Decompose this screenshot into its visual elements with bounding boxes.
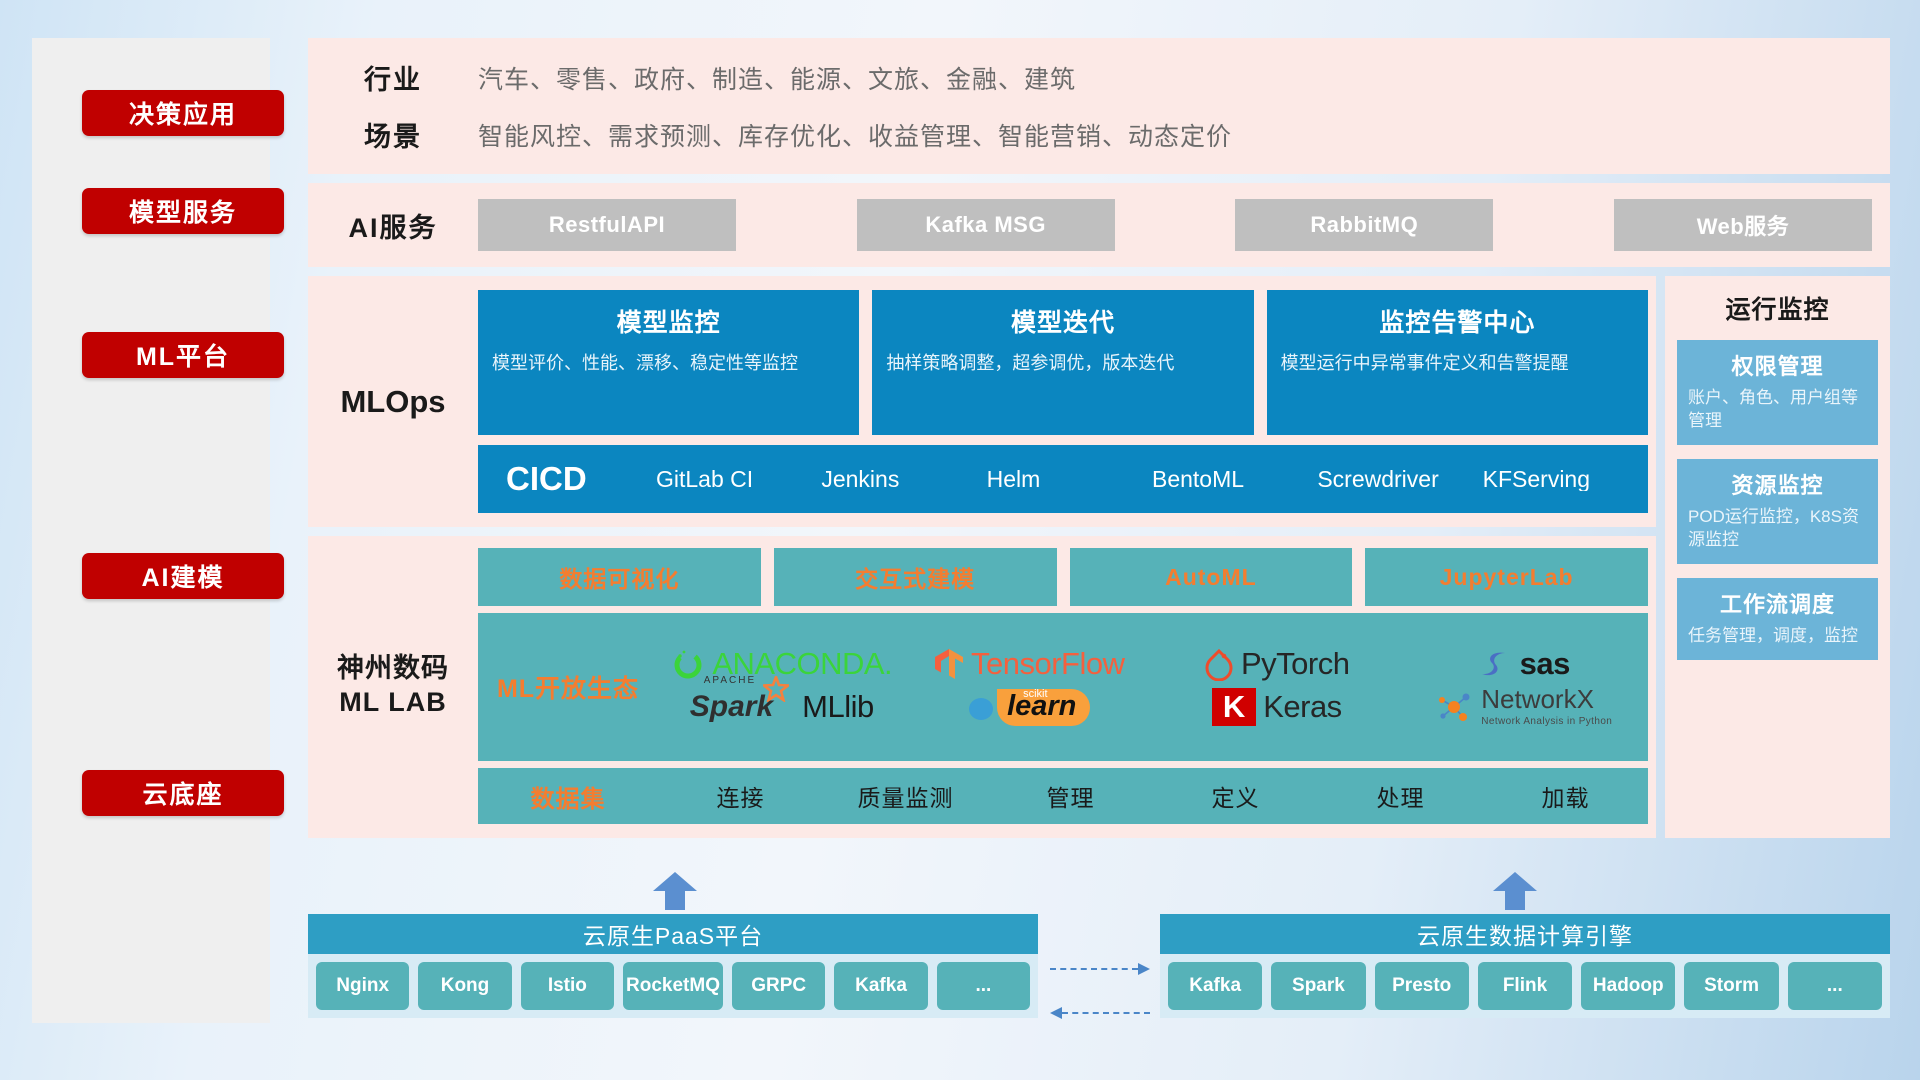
ml-lab-key-line2: ML LAB	[339, 686, 447, 720]
ai-service-items: RestfulAPI Kafka MSG RabbitMQ Web服务	[478, 199, 1890, 251]
ai-modeling-band: 神州数码 ML LAB 数据可视化 交互式建模 AutoML JupyterLa…	[308, 536, 1656, 838]
cicd-item-gitlab-ci[interactable]: GitLab CI	[656, 467, 821, 491]
networkx-tagline: Network Analysis in Python	[1481, 716, 1612, 727]
dataset-item-connect[interactable]: 连接	[658, 779, 823, 813]
ecosystem-logo-grid: ANACONDA. TensorFlow	[658, 646, 1648, 728]
cicd-item-list: GitLab CI Jenkins Helm BentoML Screwdriv…	[656, 467, 1648, 491]
dataset-item-define[interactable]: 定义	[1153, 779, 1318, 813]
ai-service-band: AI服务 RestfulAPI Kafka MSG RabbitMQ Web服务	[308, 183, 1890, 267]
cicd-item-screwdriver[interactable]: Screwdriver	[1317, 467, 1482, 491]
run-monitor-column: 运行监控 权限管理 账户、角色、用户组等管理 资源监控 POD运行监控，K8S资…	[1665, 276, 1890, 838]
logo-pytorch: PyTorch	[1204, 646, 1349, 682]
rail-label-model-service[interactable]: 模型服务	[82, 188, 284, 234]
left-layer-rail: 决策应用 模型服务 ML平台 AI建模 云底座	[32, 38, 270, 1023]
cicd-item-helm[interactable]: Helm	[987, 467, 1152, 491]
card-desc: POD运行监控，K8S资源监控	[1688, 506, 1867, 552]
ml-lab-key-line1: 神州数码	[337, 652, 449, 686]
dashed-arrow-right-icon	[1050, 968, 1150, 970]
mlops-content: 模型监控 模型评价、性能、漂移、稳定性等监控 模型迭代 抽样策略调整，超参调优，…	[478, 290, 1656, 513]
run-monitor-title: 运行监控	[1677, 290, 1878, 326]
card-title: 模型监控	[492, 303, 845, 339]
chip-more-compute[interactable]: ...	[1788, 962, 1882, 1010]
sas-icon	[1479, 648, 1513, 680]
cloud-compute-title: 云原生数据计算引擎	[1160, 914, 1890, 954]
open-ecosystem-label: ML开放生态	[478, 669, 658, 705]
chip-grpc[interactable]: GRPC	[732, 962, 825, 1010]
networkx-wordmark: NetworkX	[1481, 684, 1594, 714]
scenario-row: 场景 智能风控、需求预测、库存优化、收益管理、智能营销、动态定价	[308, 115, 1890, 154]
cicd-item-kfserving[interactable]: KFServing	[1483, 467, 1648, 491]
cicd-bar: CICD GitLab CI Jenkins Helm BentoML Scre…	[478, 445, 1648, 513]
up-arrow-paas-icon	[653, 872, 697, 910]
open-ecosystem-row: ML开放生态 ANACONDA.	[478, 613, 1648, 761]
industry-value: 汽车、零售、政府、制造、能源、文旅、金融、建筑	[478, 60, 1076, 96]
dataset-label: 数据集	[478, 779, 658, 814]
industry-key: 行业	[308, 58, 478, 97]
dataset-item-load[interactable]: 加载	[1483, 779, 1648, 813]
industry-row: 行业 汽车、零售、政府、制造、能源、文旅、金融、建筑	[308, 58, 1890, 97]
anaconda-icon	[671, 647, 705, 681]
architecture-main: 行业 汽车、零售、政府、制造、能源、文旅、金融、建筑 场景 智能风控、需求预测、…	[308, 38, 1890, 838]
card-title: 工作流调度	[1688, 587, 1867, 619]
cloud-compute-group: 云原生数据计算引擎 Kafka Spark Presto Flink Hadoo…	[1160, 914, 1890, 1018]
mlops-card-list: 模型监控 模型评价、性能、漂移、稳定性等监控 模型迭代 抽样策略调整，超参调优，…	[478, 290, 1648, 435]
networkx-wordmark-block: NetworkX Network Analysis in Python	[1481, 686, 1612, 728]
pytorch-wordmark: PyTorch	[1241, 646, 1349, 682]
dataset-item-process[interactable]: 处理	[1318, 779, 1483, 813]
cloud-paas-group: 云原生PaaS平台 Nginx Kong Istio RocketMQ GRPC…	[308, 914, 1038, 1018]
card-title: 权限管理	[1688, 349, 1867, 381]
ml-lab-key: 神州数码 ML LAB	[308, 548, 478, 824]
cloud-paas-title: 云原生PaaS平台	[308, 914, 1038, 954]
decision-app-band: 行业 汽车、零售、政府、制造、能源、文旅、金融、建筑 场景 智能风控、需求预测、…	[308, 38, 1890, 174]
chip-spark[interactable]: Spark	[1271, 962, 1365, 1010]
cicd-item-jenkins[interactable]: Jenkins	[821, 467, 986, 491]
card-desc: 模型评价、性能、漂移、稳定性等监控	[492, 351, 845, 377]
logo-keras: K Keras	[1212, 688, 1342, 726]
mlops-card-model-iteration[interactable]: 模型迭代 抽样策略调整，超参调优，版本迭代	[872, 290, 1253, 435]
tool-interactive-modeling[interactable]: 交互式建模	[774, 548, 1057, 606]
mlops-card-model-monitoring[interactable]: 模型监控 模型评价、性能、漂移、稳定性等监控	[478, 290, 859, 435]
modeling-tool-list: 数据可视化 交互式建模 AutoML JupyterLab	[478, 548, 1648, 606]
chip-storm[interactable]: Storm	[1684, 962, 1778, 1010]
ml-platform-and-modeling: MLOps 模型监控 模型评价、性能、漂移、稳定性等监控 模型迭代 抽样策略调整…	[308, 276, 1656, 838]
mlops-band: MLOps 模型监控 模型评价、性能、漂移、稳定性等监控 模型迭代 抽样策略调整…	[308, 276, 1656, 527]
ai-service-key: AI服务	[308, 206, 478, 245]
dataset-item-quality-monitor[interactable]: 质量监测	[823, 779, 988, 813]
card-desc: 账户、角色、用户组等管理	[1688, 387, 1867, 433]
chip-hadoop[interactable]: Hadoop	[1581, 962, 1675, 1010]
service-box-rabbitmq[interactable]: RabbitMQ	[1235, 199, 1493, 251]
dataset-row: 数据集 连接 质量监测 管理 定义 处理 加载	[478, 768, 1648, 824]
monitor-card-workflow[interactable]: 工作流调度 任务管理，调度，监控	[1677, 578, 1878, 660]
card-desc: 抽样策略调整，超参调优，版本迭代	[886, 351, 1239, 377]
networkx-icon	[1436, 690, 1474, 724]
logo-scikit-learn: scikit learn	[968, 689, 1090, 726]
cicd-item-bentoml[interactable]: BentoML	[1152, 467, 1317, 491]
tensorflow-wordmark: TensorFlow	[971, 646, 1125, 682]
dashed-arrow-left-icon	[1050, 1012, 1150, 1014]
apache-spark-icon: APACHE Spark	[690, 690, 773, 724]
mlops-card-alert-center[interactable]: 监控告警中心 模型运行中异常事件定义和告警提醒	[1267, 290, 1648, 435]
scenario-key: 场景	[308, 115, 478, 154]
card-desc: 任务管理，调度，监控	[1688, 625, 1867, 648]
dataset-item-list: 连接 质量监测 管理 定义 处理 加载	[658, 779, 1648, 813]
chip-rocketmq[interactable]: RocketMQ	[623, 962, 723, 1010]
dataset-item-manage[interactable]: 管理	[988, 779, 1153, 813]
tool-data-visualization[interactable]: 数据可视化	[478, 548, 761, 606]
chip-more-paas[interactable]: ...	[937, 962, 1030, 1010]
card-title: 模型迭代	[886, 303, 1239, 339]
keras-wordmark: Keras	[1263, 689, 1341, 725]
service-box-restfulapi[interactable]: RestfulAPI	[478, 199, 736, 251]
chip-kafka-compute[interactable]: Kafka	[1168, 962, 1262, 1010]
spark-wordmark: Spark	[690, 690, 773, 723]
chip-flink[interactable]: Flink	[1478, 962, 1572, 1010]
cicd-label: CICD	[506, 460, 656, 498]
chip-istio[interactable]: Istio	[521, 962, 614, 1010]
logo-spark-mllib: APACHE Spark MLlib	[690, 689, 874, 725]
service-box-kafka-msg[interactable]: Kafka MSG	[857, 199, 1115, 251]
sas-wordmark: sas	[1520, 646, 1570, 682]
monitor-card-permission[interactable]: 权限管理 账户、角色、用户组等管理	[1677, 340, 1878, 445]
chip-kafka[interactable]: Kafka	[834, 962, 927, 1010]
mlops-key: MLOps	[308, 290, 478, 513]
rail-label-decision-app[interactable]: 决策应用	[82, 90, 284, 136]
pytorch-icon	[1204, 647, 1234, 681]
spark-star-icon	[763, 676, 789, 702]
rail-label-ai-modeling[interactable]: AI建模	[82, 553, 284, 599]
rail-label-cloud-base[interactable]: 云底座	[82, 770, 284, 816]
logo-sas: sas	[1479, 646, 1570, 682]
cloud-paas-chips: Nginx Kong Istio RocketMQ GRPC Kafka ...	[308, 954, 1038, 1018]
monitor-card-resource[interactable]: 资源监控 POD运行监控，K8S资源监控	[1677, 459, 1878, 564]
up-arrow-compute-icon	[1493, 872, 1537, 910]
tool-jupyterlab[interactable]: JupyterLab	[1365, 548, 1648, 606]
mid-section: MLOps 模型监控 模型评价、性能、漂移、稳定性等监控 模型迭代 抽样策略调整…	[308, 276, 1890, 838]
scikit-text: scikit	[1023, 688, 1047, 700]
cloud-base-section: 云原生PaaS平台 Nginx Kong Istio RocketMQ GRPC…	[308, 890, 1890, 1030]
scenario-value: 智能风控、需求预测、库存优化、收益管理、智能营销、动态定价	[478, 117, 1232, 153]
chip-kong[interactable]: Kong	[418, 962, 511, 1010]
cloud-compute-chips: Kafka Spark Presto Flink Hadoop Storm ..…	[1160, 954, 1890, 1018]
spark-apache-text: APACHE	[704, 675, 756, 686]
mllib-wordmark: MLlib	[802, 689, 874, 725]
rail-label-ml-platform[interactable]: ML平台	[82, 332, 284, 378]
chip-nginx[interactable]: Nginx	[316, 962, 409, 1010]
keras-icon: K	[1212, 688, 1256, 726]
logo-tensorflow: TensorFlow	[934, 646, 1125, 682]
ai-modeling-content: 数据可视化 交互式建模 AutoML JupyterLab ML开放生态	[478, 548, 1656, 824]
service-box-web[interactable]: Web服务	[1614, 199, 1872, 251]
chip-presto[interactable]: Presto	[1375, 962, 1469, 1010]
tensorflow-icon	[934, 647, 964, 681]
scikit-learn-badge: scikit learn	[997, 689, 1090, 726]
card-title: 资源监控	[1688, 468, 1867, 500]
tool-automl[interactable]: AutoML	[1070, 548, 1353, 606]
logo-networkx: NetworkX Network Analysis in Python	[1436, 686, 1612, 728]
card-desc: 模型运行中异常事件定义和告警提醒	[1281, 351, 1634, 377]
card-title: 监控告警中心	[1281, 303, 1634, 339]
